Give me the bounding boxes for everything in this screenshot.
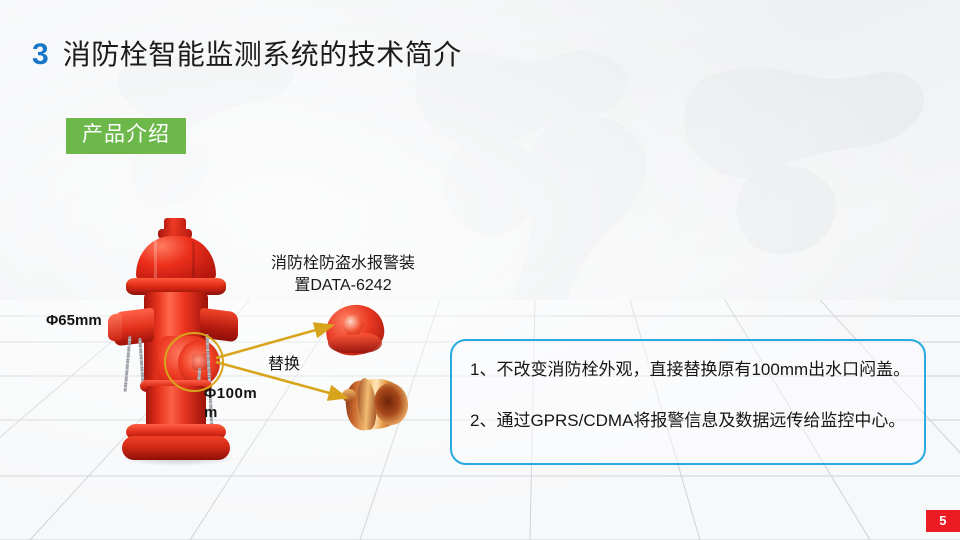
title-text: 消防栓智能监测系统的技术简介: [63, 41, 462, 69]
hydrant-dome-shade: [192, 242, 195, 278]
hydrant-dome: [136, 236, 216, 282]
feature-info-box: 1、不改变消防栓外观，直接替换原有100mm出水口闷盖。 2、通过GPRS/CD…: [450, 339, 926, 465]
hydrant-lower-barrel: [146, 386, 206, 428]
feature-item-2: 2、通过GPRS/CDMA将报警信息及数据远传给监控中心。: [470, 409, 910, 434]
device-name-line-2: 置DATA-6242: [248, 275, 438, 297]
device-name-line-1: 消防栓防盗水报警装: [248, 253, 438, 275]
dimension-100mm-line-2: m: [204, 404, 260, 423]
device-name-label: 消防栓防盗水报警装 置DATA-6242: [248, 253, 438, 296]
page-title: 3 消防栓智能监测系统的技术简介: [32, 40, 462, 70]
fitting-lug: [342, 389, 356, 402]
cap-lip: [328, 333, 382, 353]
dimension-label-65mm: Φ65mm: [46, 312, 102, 329]
port-highlight-circle: [164, 332, 224, 392]
replace-label: 替换: [268, 350, 300, 374]
page-number-badge: 5: [926, 510, 960, 532]
hydrant-left-port-cap: [108, 313, 122, 342]
dimension-label-100mm: Φ100m m: [204, 385, 260, 423]
hydrant-base-lower: [122, 436, 230, 460]
slide-canvas: 3 消防栓智能监测系统的技术简介 产品介绍: [0, 0, 960, 540]
outlet-fitting-part-image: [340, 375, 410, 433]
dimension-100mm-line-1: Φ100m: [204, 385, 260, 404]
section-badge: 产品介绍: [66, 118, 186, 154]
hydrant-dome-highlight: [154, 240, 157, 280]
alarm-cap-part-image: [326, 305, 384, 355]
feature-item-1: 1、不改变消防栓外观，直接替换原有100mm出水口闷盖。: [470, 358, 910, 383]
title-number: 3: [32, 40, 49, 70]
